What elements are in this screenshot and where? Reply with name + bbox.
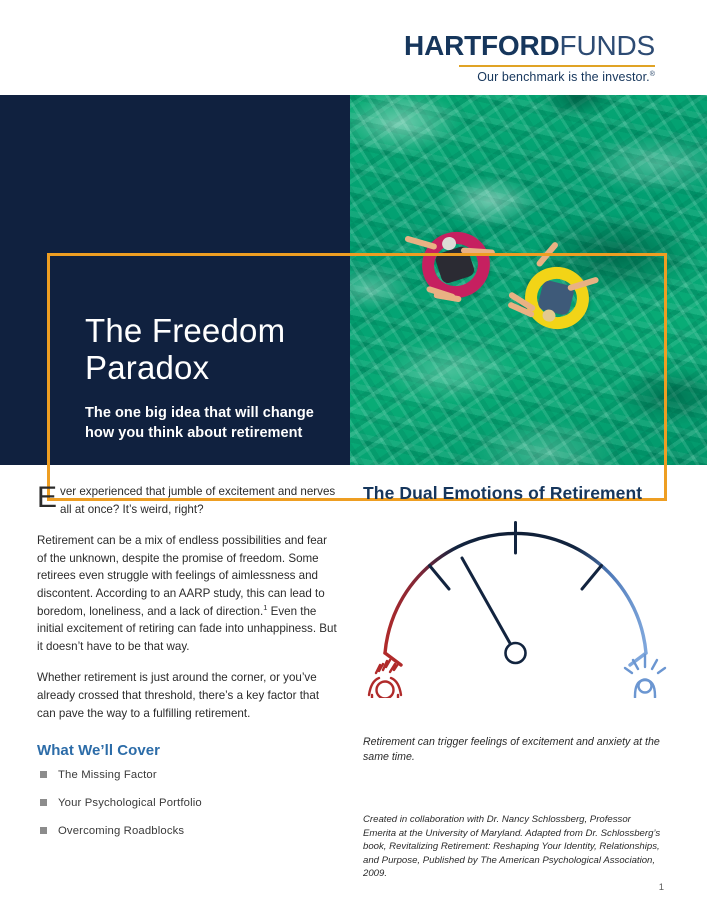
hero-subtitle: The one big idea that will change how yo… bbox=[85, 403, 335, 443]
logo-tagline-text: Our benchmark is the investor. bbox=[477, 70, 650, 84]
logo-word-hartford: HARTFORD bbox=[404, 30, 560, 61]
hero-banner: The Freedom Paradox The one big idea tha… bbox=[0, 95, 707, 465]
list-item[interactable]: The Missing Factor bbox=[37, 768, 339, 783]
right-content-column: The Dual Emotions of Retirement bbox=[363, 483, 668, 510]
hero-title-line-2: Paradox bbox=[85, 349, 209, 386]
gauge-caption: Retirement can trigger feelings of excit… bbox=[363, 735, 663, 766]
collaboration-credit: Created in collaboration with Dr. Nancy … bbox=[363, 813, 663, 881]
hero-text-block: The Freedom Paradox The one big idea tha… bbox=[85, 313, 335, 443]
registered-mark-icon: ® bbox=[650, 71, 655, 78]
square-bullet-icon bbox=[40, 771, 47, 778]
gauge-tick-right bbox=[582, 566, 602, 590]
logo-gold-rule bbox=[459, 65, 655, 67]
logo-wordmark: HARTFORDFUNDS bbox=[404, 32, 655, 60]
list-item-label: The Missing Factor bbox=[58, 769, 157, 781]
document-page: HARTFORDFUNDS Our benchmark is the inves… bbox=[0, 0, 707, 915]
stressed-person-icon bbox=[369, 660, 401, 698]
dual-emotions-heading: The Dual Emotions of Retirement bbox=[363, 483, 668, 504]
hero-subtitle-line-2: how you think about retirement bbox=[85, 425, 302, 441]
hartford-funds-logo[interactable]: HARTFORDFUNDS Our benchmark is the inves… bbox=[404, 32, 655, 84]
logo-word-funds: FUNDS bbox=[560, 30, 655, 61]
square-bullet-icon bbox=[40, 827, 47, 834]
gauge-needle bbox=[462, 558, 516, 653]
list-item-label: Your Psychological Portfolio bbox=[58, 797, 202, 809]
list-item[interactable]: Your Psychological Portfolio bbox=[37, 796, 339, 811]
what-well-cover-heading: What We’ll Cover bbox=[37, 742, 339, 759]
drop-cap: E bbox=[37, 484, 60, 510]
body-paragraph-2: Whether retirement is just around the co… bbox=[37, 669, 339, 722]
gauge-hub bbox=[506, 643, 526, 663]
dual-emotions-gauge-chart bbox=[363, 513, 668, 698]
lede-text: ver experienced that jumble of excitemen… bbox=[60, 485, 335, 516]
body-paragraph-1: Retirement can be a mix of endless possi… bbox=[37, 532, 339, 655]
hero-title-line-1: The Freedom bbox=[85, 312, 285, 349]
lede-paragraph: Ever experienced that jumble of exciteme… bbox=[37, 483, 339, 518]
left-content-column: Ever experienced that jumble of exciteme… bbox=[37, 483, 339, 851]
list-item[interactable]: Overcoming Roadblocks bbox=[37, 824, 339, 839]
hero-subtitle-line-1: The one big idea that will change bbox=[85, 405, 314, 421]
square-bullet-icon bbox=[40, 799, 47, 806]
list-item-label: Overcoming Roadblocks bbox=[58, 825, 184, 837]
gauge-tick-left bbox=[430, 566, 450, 590]
hero-title: The Freedom Paradox bbox=[85, 313, 335, 387]
celebrating-person-icon bbox=[625, 655, 665, 698]
what-well-cover-list: The Missing Factor Your Psychological Po… bbox=[37, 768, 339, 838]
page-number: 1 bbox=[659, 882, 664, 893]
masthead: HARTFORDFUNDS Our benchmark is the inves… bbox=[0, 0, 707, 95]
logo-tagline: Our benchmark is the investor.® bbox=[404, 71, 655, 84]
gauge-svg bbox=[363, 513, 668, 698]
